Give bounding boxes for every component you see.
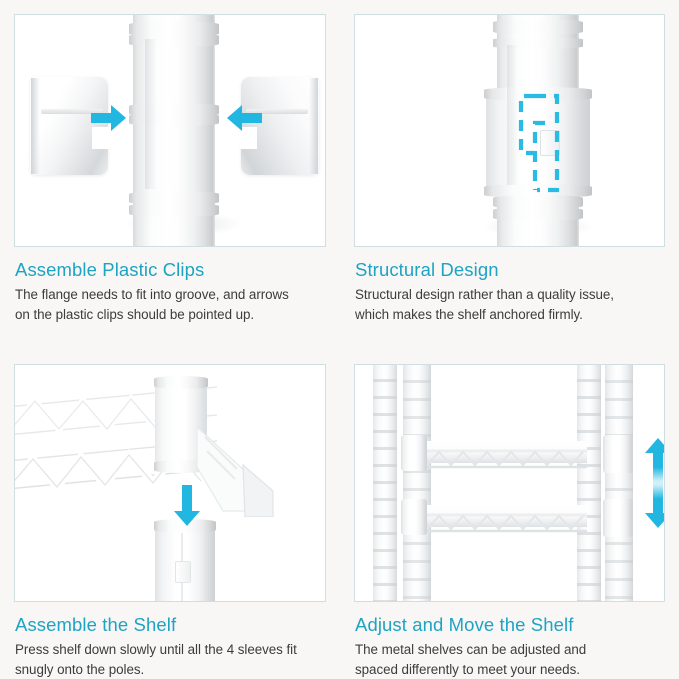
shelf-lower-truss bbox=[401, 513, 587, 533]
arrow-down-icon bbox=[643, 481, 665, 529]
highlight-dashed-outline bbox=[515, 93, 561, 193]
panel-body: The flange needs to fit into groove, and… bbox=[15, 285, 325, 324]
pole-highlight-streak bbox=[145, 39, 157, 189]
arrow-right-icon bbox=[91, 103, 127, 133]
rack-pole-front-left-grooves bbox=[403, 365, 431, 602]
rack-pole-back-left-grooves bbox=[373, 365, 397, 602]
arrow-up-icon bbox=[643, 437, 665, 485]
arrow-left-icon bbox=[226, 103, 262, 133]
panel-grid: Assemble Plastic Clips The flange needs … bbox=[0, 0, 679, 679]
panel-body: Structural design rather than a quality … bbox=[355, 285, 664, 324]
panel-title: Adjust and Move the Shelf bbox=[355, 613, 664, 637]
panel-title: Assemble the Shelf bbox=[15, 613, 325, 637]
pole-ring-mid bbox=[129, 113, 219, 126]
panel-body: Press shelf down slowly until all the 4 … bbox=[15, 640, 325, 679]
shelf-corner-sleeve-top-rim bbox=[154, 376, 208, 389]
instruction-infographic: Assemble Plastic Clips The flange needs … bbox=[0, 0, 679, 679]
figure-wire-shelf-lowering-onto-sleeve bbox=[14, 364, 326, 602]
rack-pole-back-right-grooves bbox=[577, 365, 601, 602]
shelf-upper-sleeve-right bbox=[603, 435, 633, 473]
caption-adjust-and-move-the-shelf: Adjust and Move the Shelf The metal shel… bbox=[354, 602, 665, 679]
panel-structural-design: Structural Design Structural design rath… bbox=[340, 0, 679, 350]
shelf-upper-sleeve-left bbox=[401, 435, 427, 471]
caption-assemble-the-shelf: Assemble the Shelf Press shelf down slow… bbox=[14, 602, 326, 679]
pole-ring-top bbox=[493, 19, 583, 35]
pole-ring-bottom bbox=[493, 207, 583, 221]
panel-adjust-and-move-the-shelf: Adjust and Move the Shelf The metal shel… bbox=[340, 350, 679, 679]
panel-body: The metal shelves can be adjusted and sp… bbox=[355, 640, 664, 679]
figure-shelving-unit-with-two-adjustable-shelves bbox=[354, 364, 665, 602]
panel-title: Assemble Plastic Clips bbox=[15, 258, 325, 282]
shelf-gusset-bracket bbox=[197, 421, 287, 517]
panel-assemble-plastic-clips: Assemble Plastic Clips The flange needs … bbox=[0, 0, 340, 350]
plastic-clip-right-inner-edge bbox=[309, 78, 318, 174]
pole-ring-bottom bbox=[129, 203, 219, 217]
caption-structural-design: Structural Design Structural design rath… bbox=[354, 247, 665, 324]
shelf-lower-sleeve-left bbox=[401, 499, 427, 535]
rack-pole-front-right-grooves bbox=[605, 365, 633, 602]
shelf-lower-sleeve-right bbox=[603, 499, 633, 537]
arrow-down-icon bbox=[172, 485, 202, 527]
panel-assemble-the-shelf: Assemble the Shelf Press shelf down slow… bbox=[0, 350, 340, 679]
shelf-upper-truss bbox=[401, 449, 587, 469]
caption-assemble-plastic-clips: Assemble Plastic Clips The flange needs … bbox=[14, 247, 326, 324]
figure-pole-with-sleeve-seam-highlight bbox=[354, 14, 665, 247]
pole-ring-upper bbox=[129, 33, 219, 47]
figure-pole-with-two-plastic-clips bbox=[14, 14, 326, 247]
panel-title: Structural Design bbox=[355, 258, 664, 282]
plastic-clip-left-inner-edge bbox=[31, 78, 40, 174]
pole-sleeve-loose-tab bbox=[175, 561, 191, 583]
